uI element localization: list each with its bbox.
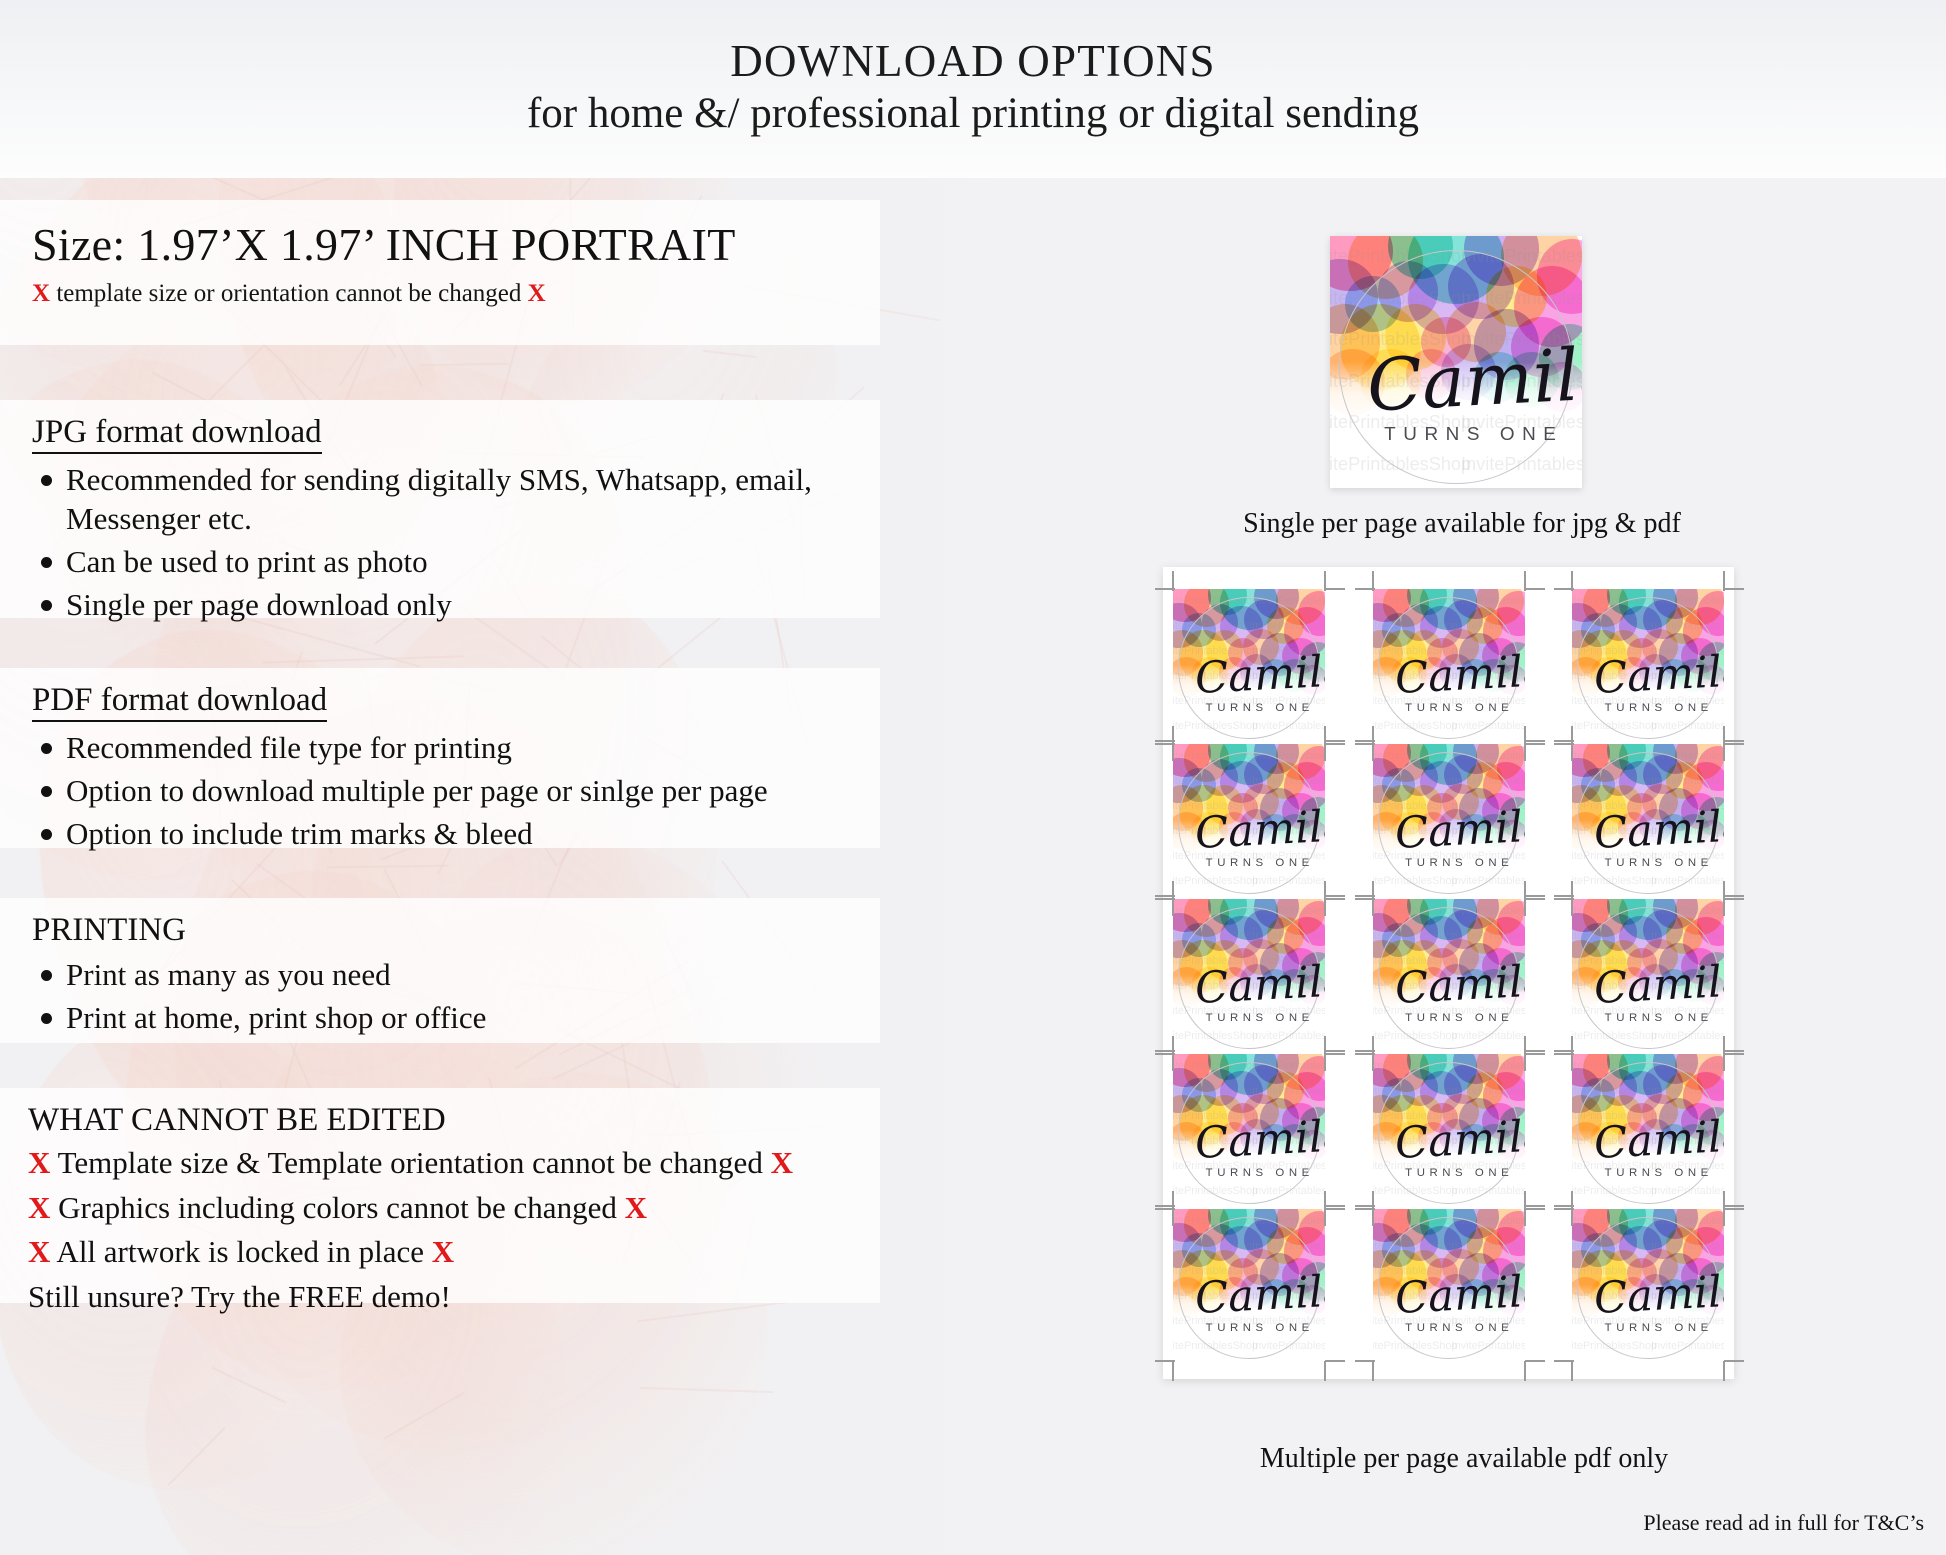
caption-single-per-page: Single per page available for jpg & pdf	[1232, 508, 1692, 540]
page-subtitle: for home &/ professional printing or dig…	[527, 89, 1419, 140]
sticker-name: Camila	[1393, 956, 1524, 1014]
sticker-name: Camila	[1393, 1111, 1524, 1169]
page-title: DOWNLOAD OPTIONS	[730, 38, 1215, 86]
jpg-bullet-list: Recommended for sending digitally SMS, W…	[32, 460, 880, 624]
trim-mark	[1355, 743, 1375, 745]
size-note-text: template size or orientation cannot be c…	[50, 280, 528, 307]
single-sticker-preview[interactable]: InvitePrintablesShopInvitePrintablesShop…	[1330, 236, 1582, 488]
trim-mark	[1325, 1360, 1345, 1362]
sticker-subtitle: TURNS ONE	[1206, 1012, 1314, 1024]
trim-mark	[1355, 588, 1375, 590]
size-heading: Size: 1.97’X 1.97’ INCH PORTRAIT	[32, 218, 880, 271]
trim-mark	[1554, 1208, 1574, 1210]
caption-terms: Please read ad in full for T&C’s	[1584, 1510, 1924, 1536]
sticker-name: Camila	[1593, 801, 1724, 859]
sticker-name: Camila	[1194, 956, 1325, 1014]
x-mark-icon: X	[528, 280, 546, 307]
cannot-edit-title: WHAT CANNOT BE EDITED	[28, 1102, 446, 1139]
sticker-subtitle: TURNS ONE	[1605, 1167, 1713, 1179]
trim-mark	[1525, 1360, 1545, 1362]
trim-mark	[1155, 1053, 1175, 1055]
trim-mark	[1355, 898, 1375, 900]
sticker-subtitle: TURNS ONE	[1605, 857, 1713, 869]
cannot-edit-line-text: All artwork is locked in place	[50, 1234, 431, 1269]
trim-mark	[1525, 1053, 1545, 1055]
cannot-edit-line-text: Template size & Template orientation can…	[50, 1145, 770, 1180]
trim-mark	[1554, 1053, 1574, 1055]
trim-mark	[1724, 1205, 1744, 1207]
trim-mark	[1723, 1361, 1725, 1381]
sheet-sticker: InvitePrintablesShopInvitePrintablesShop…	[1173, 1209, 1325, 1361]
trim-mark	[1325, 898, 1345, 900]
trim-mark	[1554, 1360, 1574, 1362]
trim-mark	[1325, 588, 1345, 590]
sticker-name: Camila	[1593, 1266, 1724, 1324]
list-item: Print as many as you need	[32, 955, 880, 994]
size-panel: Size: 1.97’X 1.97’ INCH PORTRAIT X templ…	[0, 200, 880, 345]
trim-mark	[1525, 898, 1545, 900]
trim-mark	[1325, 1050, 1345, 1052]
trim-mark	[1325, 740, 1345, 742]
list-item: Recommended file type for printing	[32, 728, 880, 767]
trim-mark	[1724, 1208, 1744, 1210]
header-banner: DOWNLOAD OPTIONS for home &/ professiona…	[0, 0, 1946, 178]
pdf-bullet-list: Recommended file type for printing Optio…	[32, 728, 880, 853]
trim-mark	[1525, 1205, 1545, 1207]
trim-mark	[1155, 1360, 1175, 1362]
trim-mark	[1724, 898, 1744, 900]
list-item: Option to include trim marks & bleed	[32, 814, 880, 853]
size-note: X template size or orientation cannot be…	[32, 280, 880, 308]
x-mark-icon: X	[28, 1234, 50, 1269]
trim-mark	[1172, 1361, 1174, 1381]
sheet-sticker: InvitePrintablesShopInvitePrintablesShop…	[1373, 1054, 1525, 1206]
trim-mark	[1155, 1208, 1175, 1210]
pdf-panel-title: PDF format download	[32, 682, 327, 722]
list-item: Single per page download only	[32, 585, 880, 624]
trim-mark	[1325, 1053, 1345, 1055]
sticker-subtitle: TURNS ONE	[1605, 1322, 1713, 1334]
trim-mark	[1525, 740, 1545, 742]
printing-panel-title: PRINTING	[32, 912, 186, 949]
sticker-subtitle: TURNS ONE	[1206, 1322, 1314, 1334]
sheet-sticker: InvitePrintablesShopInvitePrintablesShop…	[1572, 744, 1724, 896]
list-item: Option to download multiple per page or …	[32, 771, 880, 810]
trim-mark	[1355, 1208, 1375, 1210]
sticker-name: Camila	[1194, 1111, 1325, 1169]
trim-mark	[1724, 1360, 1744, 1362]
sheet-sticker: InvitePrintablesShopInvitePrintablesShop…	[1373, 744, 1525, 896]
sheet-sticker: InvitePrintablesShopInvitePrintablesShop…	[1572, 1054, 1724, 1206]
trim-mark	[1155, 743, 1175, 745]
sheet-sticker: InvitePrintablesShopInvitePrintablesShop…	[1173, 744, 1325, 896]
x-mark-icon: X	[771, 1145, 793, 1180]
sticker-subtitle: TURNS ONE	[1405, 1012, 1513, 1024]
sheet-sticker: InvitePrintablesShopInvitePrintablesShop…	[1373, 1209, 1525, 1361]
trim-mark	[1525, 743, 1545, 745]
trim-mark	[1525, 588, 1545, 590]
trim-mark	[1355, 1360, 1375, 1362]
pdf-format-panel: PDF format download Recommended file typ…	[0, 668, 880, 848]
sheet-sticker: InvitePrintablesShopInvitePrintablesShop…	[1173, 1054, 1325, 1206]
list-item: Recommended for sending digitally SMS, W…	[32, 460, 880, 538]
sheet-sticker: InvitePrintablesShopInvitePrintablesShop…	[1173, 589, 1325, 741]
x-mark-icon: X	[625, 1190, 647, 1225]
sheet-sticker: InvitePrintablesShopInvitePrintablesShop…	[1373, 589, 1525, 741]
trim-mark	[1724, 895, 1744, 897]
sticker-name: Camila	[1194, 646, 1325, 704]
multiple-per-page-sheet[interactable]: InvitePrintablesShopInvitePrintablesShop…	[1163, 567, 1734, 1379]
sticker-subtitle: TURNS ONE	[1206, 1167, 1314, 1179]
sticker-subtitle: TURNS ONE	[1206, 702, 1314, 714]
sticker-name: Camila	[1393, 801, 1524, 859]
sheet-sticker: InvitePrintablesShopInvitePrintablesShop…	[1572, 1209, 1724, 1361]
cannot-edit-panel: WHAT CANNOT BE EDITED X Template size & …	[0, 1088, 880, 1303]
sticker-name: Camila	[1593, 956, 1724, 1014]
trim-mark	[1554, 588, 1574, 590]
sticker-name: Camila	[1194, 801, 1325, 859]
sheet-sticker: InvitePrintablesShopInvitePrintablesShop…	[1373, 899, 1525, 1051]
list-item: Can be used to print as photo	[32, 542, 880, 581]
cannot-edit-line-text: Graphics including colors cannot be chan…	[50, 1190, 624, 1225]
sheet-sticker: InvitePrintablesShopInvitePrintablesShop…	[1572, 899, 1724, 1051]
cannot-edit-line: X Graphics including colors cannot be ch…	[28, 1187, 880, 1229]
trim-mark	[1724, 1050, 1744, 1052]
trim-mark	[1724, 1053, 1744, 1055]
trim-mark	[1724, 743, 1744, 745]
sticker-subtitle: TURNS ONE	[1384, 424, 1563, 446]
trim-mark	[1525, 895, 1545, 897]
trim-mark	[1325, 1205, 1345, 1207]
trim-mark	[1524, 1361, 1526, 1381]
printing-bullet-list: Print as many as you need Print at home,…	[32, 955, 880, 1037]
x-mark-icon: X	[28, 1145, 50, 1180]
sticker-subtitle: TURNS ONE	[1405, 1167, 1513, 1179]
trim-mark	[1324, 1361, 1326, 1381]
sticker-name: Camila	[1393, 1266, 1524, 1324]
sticker-name: Camila	[1593, 1111, 1724, 1169]
sheet-sticker: InvitePrintablesShopInvitePrintablesShop…	[1173, 899, 1325, 1051]
trim-mark	[1554, 743, 1574, 745]
jpg-format-panel: JPG format download Recommended for send…	[0, 400, 880, 618]
printing-panel: PRINTING Print as many as you need Print…	[0, 898, 880, 1043]
trim-mark	[1155, 898, 1175, 900]
caption-multiple-per-page: Multiple per page available pdf only	[1244, 1443, 1684, 1475]
sheet-sticker: InvitePrintablesShopInvitePrintablesShop…	[1572, 589, 1724, 741]
trim-mark	[1325, 743, 1345, 745]
trim-mark	[1155, 588, 1175, 590]
trim-mark	[1325, 895, 1345, 897]
trim-mark	[1525, 1050, 1545, 1052]
sticker-name: Camila	[1393, 646, 1524, 704]
x-mark-icon: X	[432, 1234, 454, 1269]
sticker-subtitle: TURNS ONE	[1206, 857, 1314, 869]
trim-mark	[1724, 588, 1744, 590]
cannot-edit-line: X Template size & Template orientation c…	[28, 1142, 880, 1184]
sticker-name: Camila	[1593, 646, 1724, 704]
sticker-subtitle: TURNS ONE	[1605, 702, 1713, 714]
sticker-subtitle: TURNS ONE	[1605, 1012, 1713, 1024]
sticker-subtitle: TURNS ONE	[1405, 702, 1513, 714]
trim-mark	[1525, 1208, 1545, 1210]
x-mark-icon: X	[28, 1190, 50, 1225]
trim-mark	[1372, 1361, 1374, 1381]
trim-mark	[1724, 740, 1744, 742]
trim-mark	[1554, 898, 1574, 900]
sticker-subtitle: TURNS ONE	[1405, 1322, 1513, 1334]
jpg-panel-title: JPG format download	[32, 414, 322, 454]
trim-mark	[1355, 1053, 1375, 1055]
sticker-name: Camila	[1194, 1266, 1325, 1324]
sticker-name: Camila	[1365, 330, 1582, 427]
cannot-edit-line: X All artwork is locked in place X	[28, 1231, 880, 1273]
sticker-subtitle: TURNS ONE	[1405, 857, 1513, 869]
trim-mark	[1571, 1361, 1573, 1381]
cannot-edit-footer: Still unsure? Try the FREE demo!	[28, 1276, 880, 1318]
x-mark-icon: X	[32, 280, 50, 307]
trim-mark	[1325, 1208, 1345, 1210]
list-item: Print at home, print shop or office	[32, 998, 880, 1037]
